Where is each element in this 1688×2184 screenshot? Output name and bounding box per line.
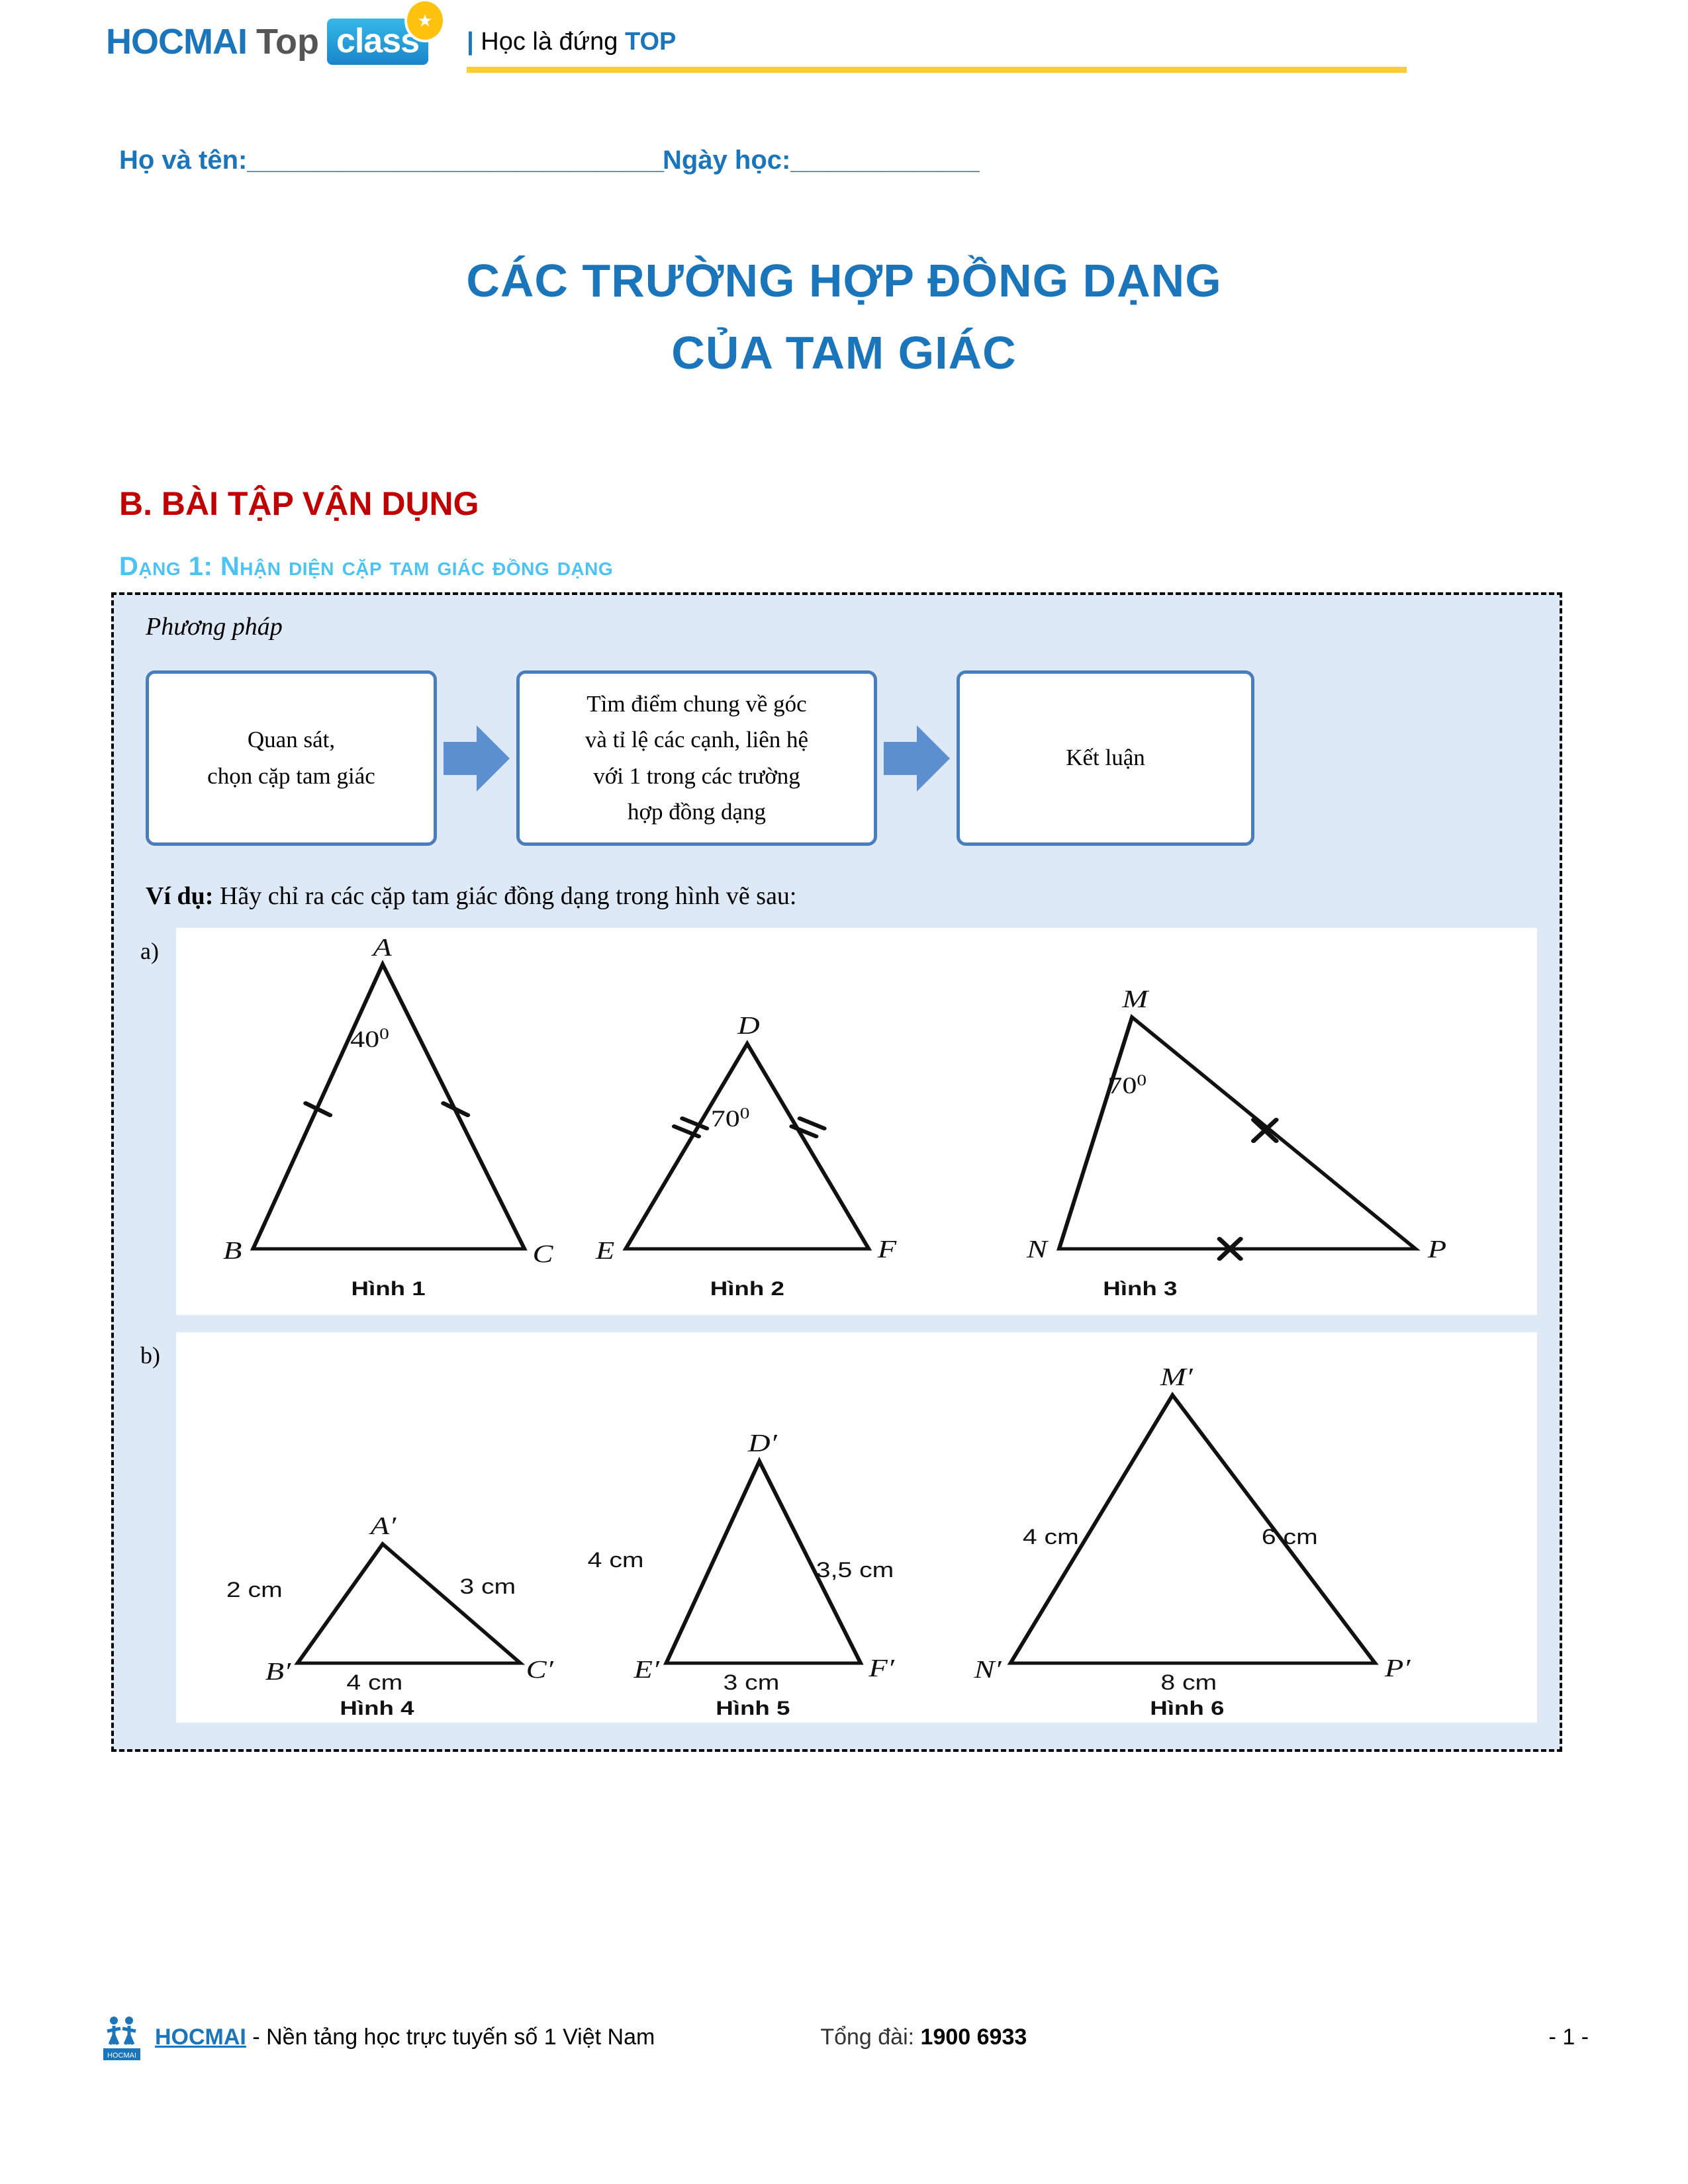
vertex-label-M: M [1121,985,1150,1013]
hocmai-topclass-logo: HOCMAI Top class ★ [99,19,428,65]
vertex-label-D-prime: D′ [747,1430,778,1457]
vertex-label-N-prime: N′ [973,1656,1002,1684]
section-heading-b: B. BÀI TẬP VẬN DỤNG [99,484,1589,523]
example-prompt-text: Hãy chỉ ra các cặp tam giác đồng dạng tr… [213,882,796,910]
tagline-text: Học là đứng [481,28,625,56]
hocmai-people-icon: HOCMAI [99,2013,144,2062]
page-header: HOCMAI Top class ★ | Học là đứng TOP [99,0,1589,99]
vertex-label-N: N [1026,1236,1049,1263]
vertex-label-B: B [223,1237,242,1265]
example-prompt: Ví dụ: Hãy chỉ ra các cặp tam giác đồng … [136,882,1537,911]
flow-arrow-2-icon [877,719,957,798]
vertex-label-A: A [371,934,393,962]
figure-caption-hinh2: Hình 2 [710,1278,784,1300]
side-label-h5-left: 4 cm [588,1548,644,1572]
vertex-label-A-prime: A′ [368,1512,397,1540]
footer-brand[interactable]: HOCMAI [155,2025,246,2050]
vertex-label-C-prime: C′ [526,1656,554,1684]
vertex-label-B-prime: B′ [265,1658,291,1686]
flow-step-3: Kết luận [957,670,1254,846]
footer-brand-line: HOCMAI - Nền tảng học trực tuyến số 1 Vi… [155,2025,655,2050]
side-label-h6-right: 6 cm [1262,1525,1318,1549]
figure-caption-hinh3: Hình 3 [1103,1278,1177,1300]
flow-step-2-label: Tìm điểm chung về gócvà tỉ lệ các cạnh, … [585,686,808,830]
flow-step-1-label: Quan sát,chọn cặp tam giác [207,722,375,794]
figure-row-a: a) [136,928,1537,1315]
footer-page-number: - 1 - [1549,2025,1589,2050]
angle-label-D: 700 [711,1105,750,1132]
vertex-label-P-prime: P′ [1384,1655,1411,1682]
footer-tagline: - Nền tảng học trực tuyến số 1 Việt Nam [246,2025,655,2050]
figure-caption-hinh4: Hình 4 [340,1698,414,1719]
svg-text:HOCMAI: HOCMAI [107,2052,136,2060]
vertex-label-C: C [532,1240,553,1268]
tagline-bar: | [467,28,474,56]
method-label: Phương pháp [136,612,1537,641]
figure-caption-hinh6: Hình 6 [1150,1698,1224,1719]
student-meta-line: Họ và tên: _____________________________… [99,99,1589,175]
figure-caption-hinh1: Hình 1 [352,1278,426,1300]
figure-row-b: b) A′ B′ C′ D′ [136,1332,1537,1723]
name-label: Họ và tên: [119,146,247,175]
side-label-h4-left: 2 cm [226,1578,283,1602]
page-title-line1: CÁC TRƯỜNG HỢP ĐỒNG DẠNG [99,245,1589,317]
vertex-label-F-prime: F′ [868,1655,894,1682]
vertex-label-M-prime: M′ [1160,1363,1194,1391]
flow-arrow-1-icon [437,719,516,798]
method-panel: Phương pháp Quan sát,chọn cặp tam giác T… [111,592,1562,1752]
flow-step-2: Tìm điểm chung về gócvà tỉ lệ các cạnh, … [516,670,877,846]
page-title-line2: CỦA TAM GIÁC [99,317,1589,389]
figures-a-svg: A B C D E F M N P 400 700 700 [176,928,1537,1315]
subsection-heading-dang1: Dạng 1: Nhận diện cặp tam giác đồng dạng [99,552,1589,582]
header-yellow-rule [467,67,1407,73]
side-label-h4-bottom: 4 cm [346,1670,402,1694]
figure-canvas-a: A B C D E F M N P 400 700 700 [176,928,1537,1315]
side-label-h6-bottom: 8 cm [1160,1670,1217,1694]
flow-step-3-label: Kết luận [1066,740,1145,776]
logo-class-badge-box: class ★ [327,19,428,65]
vertex-label-P: P [1427,1236,1446,1263]
name-input-blank[interactable]: _______________________________ [247,146,663,175]
date-label: Ngày học: [663,146,790,175]
example-prompt-bold: Ví dụ: [146,882,213,910]
logo-class-text: class [336,22,419,60]
vertex-label-E: E [595,1237,615,1265]
vertex-label-E-prime: E′ [633,1656,659,1684]
page-footer: HOCMAI HOCMAI - Nền tảng học trực tuyến … [99,2013,1589,2062]
side-label-h4-right: 3 cm [459,1574,516,1598]
figures-b-svg: A′ B′ C′ D′ E′ F′ M′ N′ P′ 2 cm 3 cm 4 c… [176,1332,1537,1723]
angle-label-M: 700 [1107,1071,1147,1099]
page-title: CÁC TRƯỜNG HỢP ĐỒNG DẠNG CỦA TAM GIÁC [99,245,1589,388]
logo-hocmai-text: HOCMAI [106,21,247,62]
side-label-h6-left: 4 cm [1023,1525,1079,1549]
figure-row-a-label: a) [136,928,176,965]
header-tagline-block: | Học là đứng TOP [467,19,1589,73]
logo-top-text: Top [256,21,319,62]
footer-hotline: Tổng đài: 1900 6933 [820,2025,1027,2050]
vertex-label-D: D [737,1012,760,1040]
figure-caption-hinh5: Hình 5 [716,1698,790,1719]
figure-canvas-b: A′ B′ C′ D′ E′ F′ M′ N′ P′ 2 cm 3 cm 4 c… [176,1332,1537,1723]
side-label-h5-bottom: 3 cm [723,1670,779,1694]
date-input-blank[interactable]: ______________ [790,146,978,175]
worksheet-page: HOCMAI Top class ★ | Học là đứng TOP Họ … [0,0,1688,2184]
tagline-accent: TOP [625,28,676,56]
star-icon: ★ [407,1,443,40]
method-flowchart: Quan sát,chọn cặp tam giác Tìm điểm chun… [136,670,1537,846]
side-label-h5-right: 3,5 cm [816,1558,894,1582]
angle-label-A: 400 [350,1025,389,1053]
footer-hotline-number: 1900 6933 [921,2025,1027,2050]
flow-step-1: Quan sát,chọn cặp tam giác [146,670,437,846]
header-tagline: | Học là đứng TOP [467,28,1589,56]
vertex-label-F: F [877,1236,898,1263]
figure-row-b-label: b) [136,1332,176,1369]
footer-hotline-label: Tổng đài: [820,2025,920,2050]
